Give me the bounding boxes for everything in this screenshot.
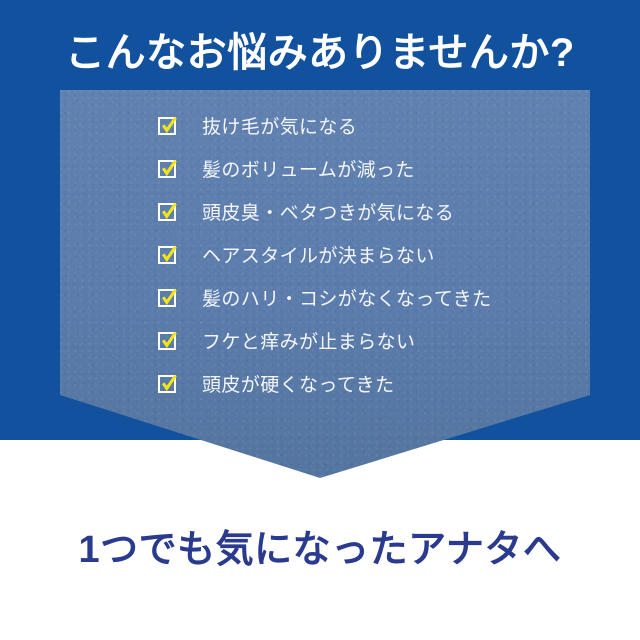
checkbox-checked-icon[interactable] [158, 332, 176, 350]
list-item[interactable]: 髪のボリュームが減った [158, 147, 578, 190]
checkbox-checked-icon[interactable] [158, 160, 176, 178]
list-item-label: 頭皮臭・ベタつきが気になる [202, 198, 454, 225]
page-title: こんなお悩みありませんか? [0, 28, 640, 78]
list-item[interactable]: ヘアスタイルが決まらない [158, 233, 578, 276]
list-item-label: ヘアスタイルが決まらない [202, 241, 435, 268]
list-item[interactable]: 髪のハリ・コシがなくなってきた [158, 276, 578, 319]
list-item[interactable]: 頭皮臭・ベタつきが気になる [158, 190, 578, 233]
footer-headline: 1つでも気になったアナタへ [0, 518, 640, 573]
list-item-label: 髪のボリュームが減った [202, 155, 415, 182]
list-item-label: 髪のハリ・コシがなくなってきた [202, 284, 491, 311]
checkbox-checked-icon[interactable] [158, 289, 176, 307]
list-item[interactable]: 抜け毛が気になる [158, 104, 578, 147]
checklist: 抜け毛が気になる 髪のボリュームが減った 頭皮臭・ベタつきが気になる [158, 104, 578, 405]
list-item[interactable]: 頭皮が硬くなってきた [158, 362, 578, 405]
list-item-label: 抜け毛が気になる [202, 112, 357, 139]
checkbox-checked-icon[interactable] [158, 203, 176, 221]
checkbox-checked-icon[interactable] [158, 375, 176, 393]
list-item-label: フケと痒みが止まらない [202, 327, 415, 354]
list-item-label: 頭皮が硬くなってきた [202, 370, 394, 397]
promo-banner: こんなお悩みありませんか? 抜け毛が気になる 髪のボリュームが減った [0, 0, 640, 640]
checkbox-checked-icon[interactable] [158, 117, 176, 135]
checkbox-checked-icon[interactable] [158, 246, 176, 264]
list-item[interactable]: フケと痒みが止まらない [158, 319, 578, 362]
